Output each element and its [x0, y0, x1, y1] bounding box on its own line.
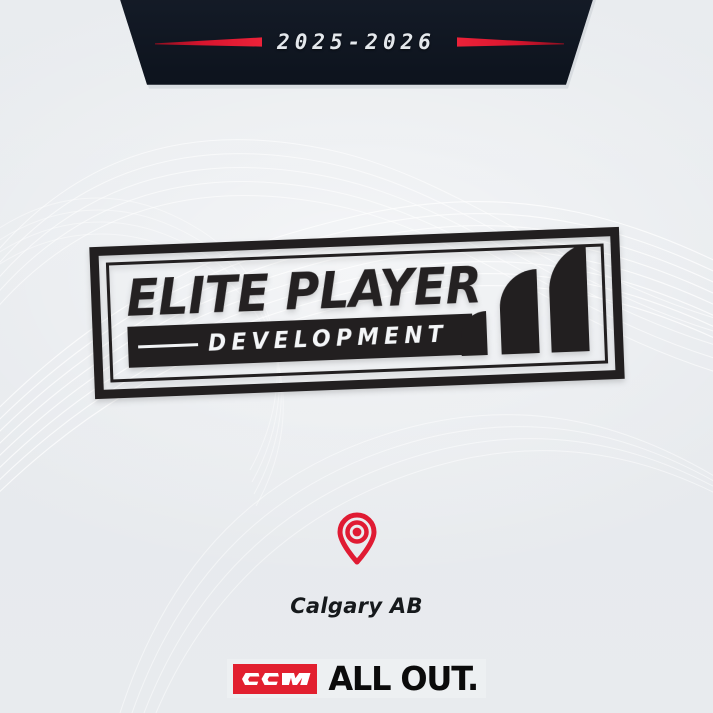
header-banner: 2025-2026 [0, 0, 713, 98]
ccm-logo-icon [233, 664, 317, 694]
epd-logo: ELITE PLAYER DEVELOPMENT [0, 228, 713, 398]
logo-inner-frame: ELITE PLAYER DEVELOPMENT [105, 243, 607, 382]
logo-rule-dash [138, 343, 198, 348]
map-pin-icon [335, 512, 379, 566]
location-pin-row [0, 512, 713, 566]
logo-subtitle: DEVELOPMENT [207, 324, 448, 356]
all-out-tagline: ALL OUT. [328, 662, 478, 695]
poster-root: 2025-2026 ELITE PLAYER DEVELOPMENT [0, 0, 713, 713]
city-name: Calgary AB [290, 594, 423, 618]
city-row: Calgary AB [0, 594, 713, 618]
footer-brand-lockup: ALL OUT. [0, 659, 713, 698]
footer-plate: ALL OUT. [227, 659, 486, 698]
season-label: 2025-2026 [277, 32, 436, 53]
header-content: 2025-2026 [0, 0, 713, 92]
logo-outer-frame: ELITE PLAYER DEVELOPMENT [89, 227, 624, 399]
ascending-bars-icon [453, 247, 589, 356]
